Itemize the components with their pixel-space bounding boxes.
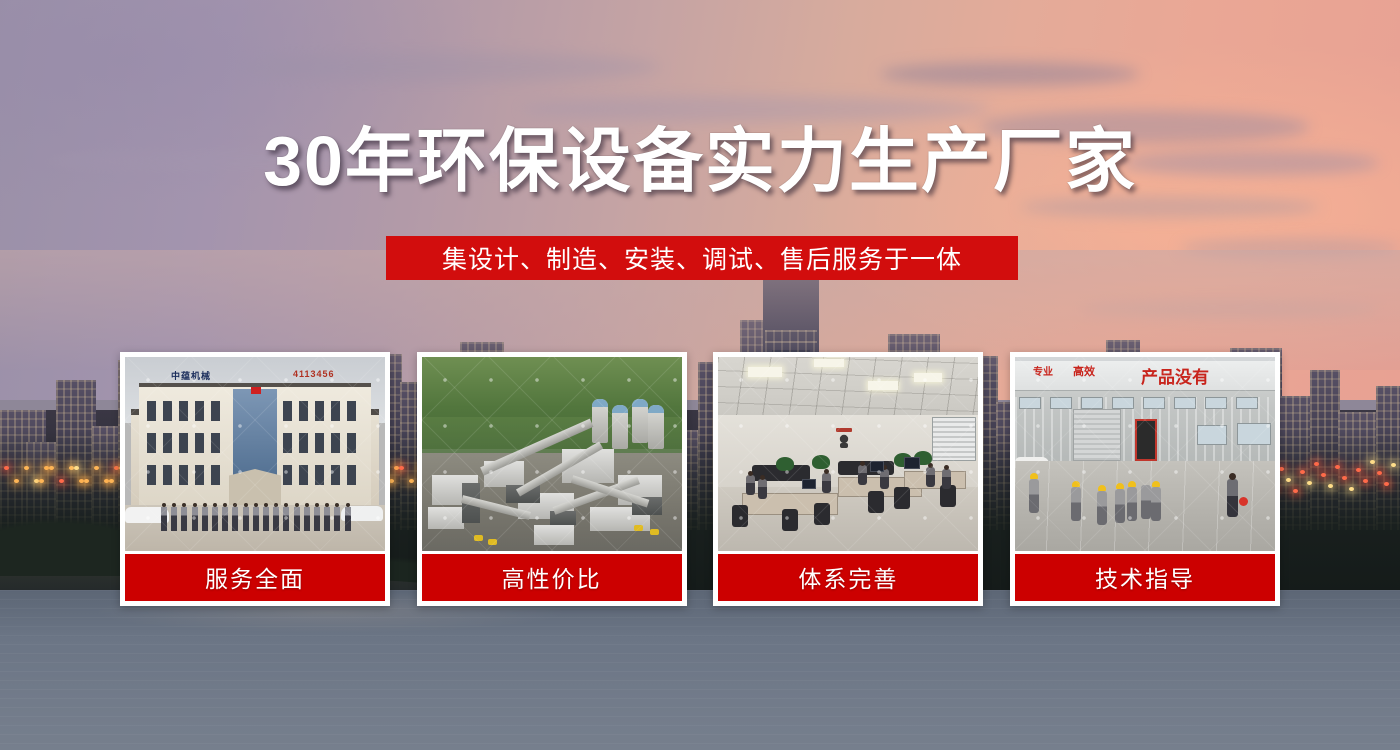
office-plant (776, 457, 794, 471)
office-chair (868, 491, 884, 513)
office-interior-photo (718, 357, 978, 551)
street-light (84, 479, 89, 483)
factory-window (1081, 397, 1103, 409)
ceiling-light (748, 367, 782, 377)
staff-person (212, 507, 218, 531)
street-light (1356, 468, 1361, 472)
building-phone-text: 4113456 (293, 369, 335, 379)
office-chair (732, 505, 748, 527)
construction-vehicle (488, 539, 497, 545)
building-window (147, 401, 156, 421)
feature-card-caption: 技术指导 (1015, 554, 1275, 601)
ceiling-light (914, 373, 942, 382)
building-window (147, 433, 156, 453)
ceiling-light (868, 381, 898, 390)
hero-banner: 30年环保设备实力生产厂家 集设计、制造、安装、调试、售后服务于一体 中 (0, 0, 1400, 750)
staff-person (243, 507, 249, 531)
feature-card-row: 中蕴机械 4113456 服务全面 高性价比 (120, 352, 1280, 606)
building-window (195, 465, 204, 485)
street-light (94, 466, 99, 470)
company-headquarters-photo: 中蕴机械 4113456 (125, 357, 385, 551)
aerial-plant-photo (422, 357, 682, 551)
street-light (4, 466, 9, 470)
street-light (1349, 487, 1354, 491)
staff-person (171, 507, 177, 531)
plant-silo (612, 405, 628, 449)
factory-window (1050, 397, 1072, 409)
staff-person (161, 507, 167, 531)
computer-monitor (904, 457, 920, 469)
staff-person (253, 507, 259, 531)
building-window (147, 465, 156, 485)
feature-card-caption: 服务全面 (125, 554, 385, 601)
feature-card[interactable]: 中蕴机械 4113456 服务全面 (120, 352, 390, 606)
staff-person (334, 507, 340, 531)
construction-vehicle (474, 535, 483, 541)
plant-building (428, 507, 464, 529)
street-light (1377, 471, 1382, 475)
plant-building (534, 525, 574, 545)
street-light (1307, 481, 1312, 485)
staff-person (294, 507, 300, 531)
building-window (283, 433, 292, 453)
wall-slogan-text: 专业 (1033, 363, 1053, 378)
ceiling-light (814, 359, 844, 367)
page-title: 30年环保设备实力生产厂家 (0, 126, 1400, 196)
feature-card[interactable]: 专业高效产品没有 技术指导 (1010, 352, 1280, 606)
construction-vehicle (634, 525, 643, 531)
office-plant (812, 455, 830, 469)
street-light (1363, 479, 1368, 483)
staff-person (283, 507, 289, 531)
street-light (1300, 470, 1305, 474)
building-window (331, 465, 340, 485)
building-window (347, 465, 356, 485)
staff-person (181, 507, 187, 531)
building-window (283, 465, 292, 485)
building-window (163, 433, 172, 453)
staff-person (232, 507, 238, 531)
factory-window (1174, 397, 1196, 409)
roll-up-door (1073, 409, 1121, 461)
wall-slogan-text: 高效 (1073, 363, 1095, 379)
red-helmet-icon (1239, 497, 1248, 506)
worker-person (1141, 485, 1151, 519)
cloud (520, 96, 990, 122)
factory-window (1205, 397, 1227, 409)
building-window (211, 433, 220, 453)
staff-person (314, 507, 320, 531)
street-light (109, 479, 114, 483)
feature-card-label: 技术指导 (1095, 560, 1195, 594)
street-light (1286, 478, 1291, 482)
factory-window (1019, 397, 1041, 409)
building-window (299, 465, 308, 485)
building-window (331, 401, 340, 421)
feature-card-label: 高性价比 (502, 560, 602, 594)
factory-window (1143, 397, 1165, 409)
building-window (211, 465, 220, 485)
street-light (14, 479, 19, 483)
staff-person (324, 507, 330, 531)
office-chair (782, 509, 798, 531)
building-window (331, 433, 340, 453)
worker-person (1097, 491, 1107, 525)
building-window (163, 401, 172, 421)
street-light (49, 466, 54, 470)
building-window (179, 465, 188, 485)
building-window (347, 401, 356, 421)
office-chair (894, 487, 910, 509)
building-window (299, 433, 308, 453)
street-light (74, 466, 79, 470)
building-window (179, 433, 188, 453)
building-window (315, 433, 324, 453)
feature-card-caption: 高性价比 (422, 554, 682, 601)
staff-person (192, 507, 198, 531)
wall-slogan-text: 产品没有 (1141, 363, 1209, 388)
street-light (1314, 462, 1319, 466)
building-window (315, 401, 324, 421)
staff-person (273, 507, 279, 531)
street-light (1328, 484, 1333, 488)
factory-window (1237, 423, 1271, 445)
building-window (347, 433, 356, 453)
feature-card[interactable]: 高性价比 (417, 352, 687, 606)
building-window (179, 401, 188, 421)
office-person (746, 475, 755, 495)
worker-person (1115, 489, 1125, 523)
factory-window (1112, 397, 1134, 409)
computer-monitor (870, 461, 884, 472)
factory-entrance-door (1135, 419, 1157, 461)
office-chair (814, 503, 830, 525)
worker-person (1127, 487, 1137, 521)
feature-card-caption: 体系完善 (718, 554, 978, 601)
staff-person (263, 507, 269, 531)
staff-person (304, 507, 310, 531)
building-window (315, 465, 324, 485)
street-light (59, 479, 64, 483)
building-window (163, 465, 172, 485)
street-light (1335, 465, 1340, 469)
building-sign-text: 中蕴机械 (171, 369, 211, 382)
plant-structure (550, 511, 576, 525)
plant-silo (648, 405, 664, 449)
feature-card-label: 体系完善 (798, 560, 898, 594)
feature-card[interactable]: 体系完善 (713, 352, 983, 606)
factory-yard-training-photo: 专业高效产品没有 (1015, 357, 1275, 551)
street-light (1293, 489, 1298, 493)
plant-silo (592, 399, 608, 443)
subtitle-banner: 集设计、制造、安装、调试、售后服务于一体 (386, 236, 1018, 280)
building-window (195, 401, 204, 421)
cloud (880, 62, 1140, 86)
street-light (1384, 482, 1389, 486)
street-light (1342, 476, 1347, 480)
street-light (24, 466, 29, 470)
factory-window (1236, 397, 1258, 409)
worker-person (1029, 479, 1039, 513)
building-window (195, 433, 204, 453)
factory-window (1197, 425, 1227, 445)
street-light (1321, 473, 1326, 477)
plant-silo (632, 399, 648, 443)
staff-person (202, 507, 208, 531)
building-window (299, 401, 308, 421)
office-person (858, 465, 867, 485)
building-window (211, 401, 220, 421)
street-light (39, 479, 44, 483)
street-light (1370, 460, 1375, 464)
staff-person (345, 507, 351, 531)
feature-card-label: 服务全面 (205, 560, 305, 594)
worker-person (1151, 487, 1161, 521)
office-person (822, 473, 831, 493)
office-person (942, 469, 951, 489)
construction-vehicle (650, 529, 659, 535)
wall-logo-icon (830, 427, 858, 449)
river-shimmer (0, 590, 1400, 750)
worker-person (1071, 487, 1081, 521)
office-person (926, 467, 935, 487)
office-desk (904, 471, 966, 489)
building-window (283, 401, 292, 421)
office-person (758, 479, 767, 499)
cloud (240, 52, 660, 82)
staff-person (222, 507, 228, 531)
computer-monitor (802, 479, 816, 489)
street-light (1391, 463, 1396, 467)
subtitle-text: 集设计、制造、安装、调试、售后服务于一体 (442, 240, 962, 276)
office-person (880, 469, 889, 489)
supervisor-person (1227, 479, 1238, 517)
